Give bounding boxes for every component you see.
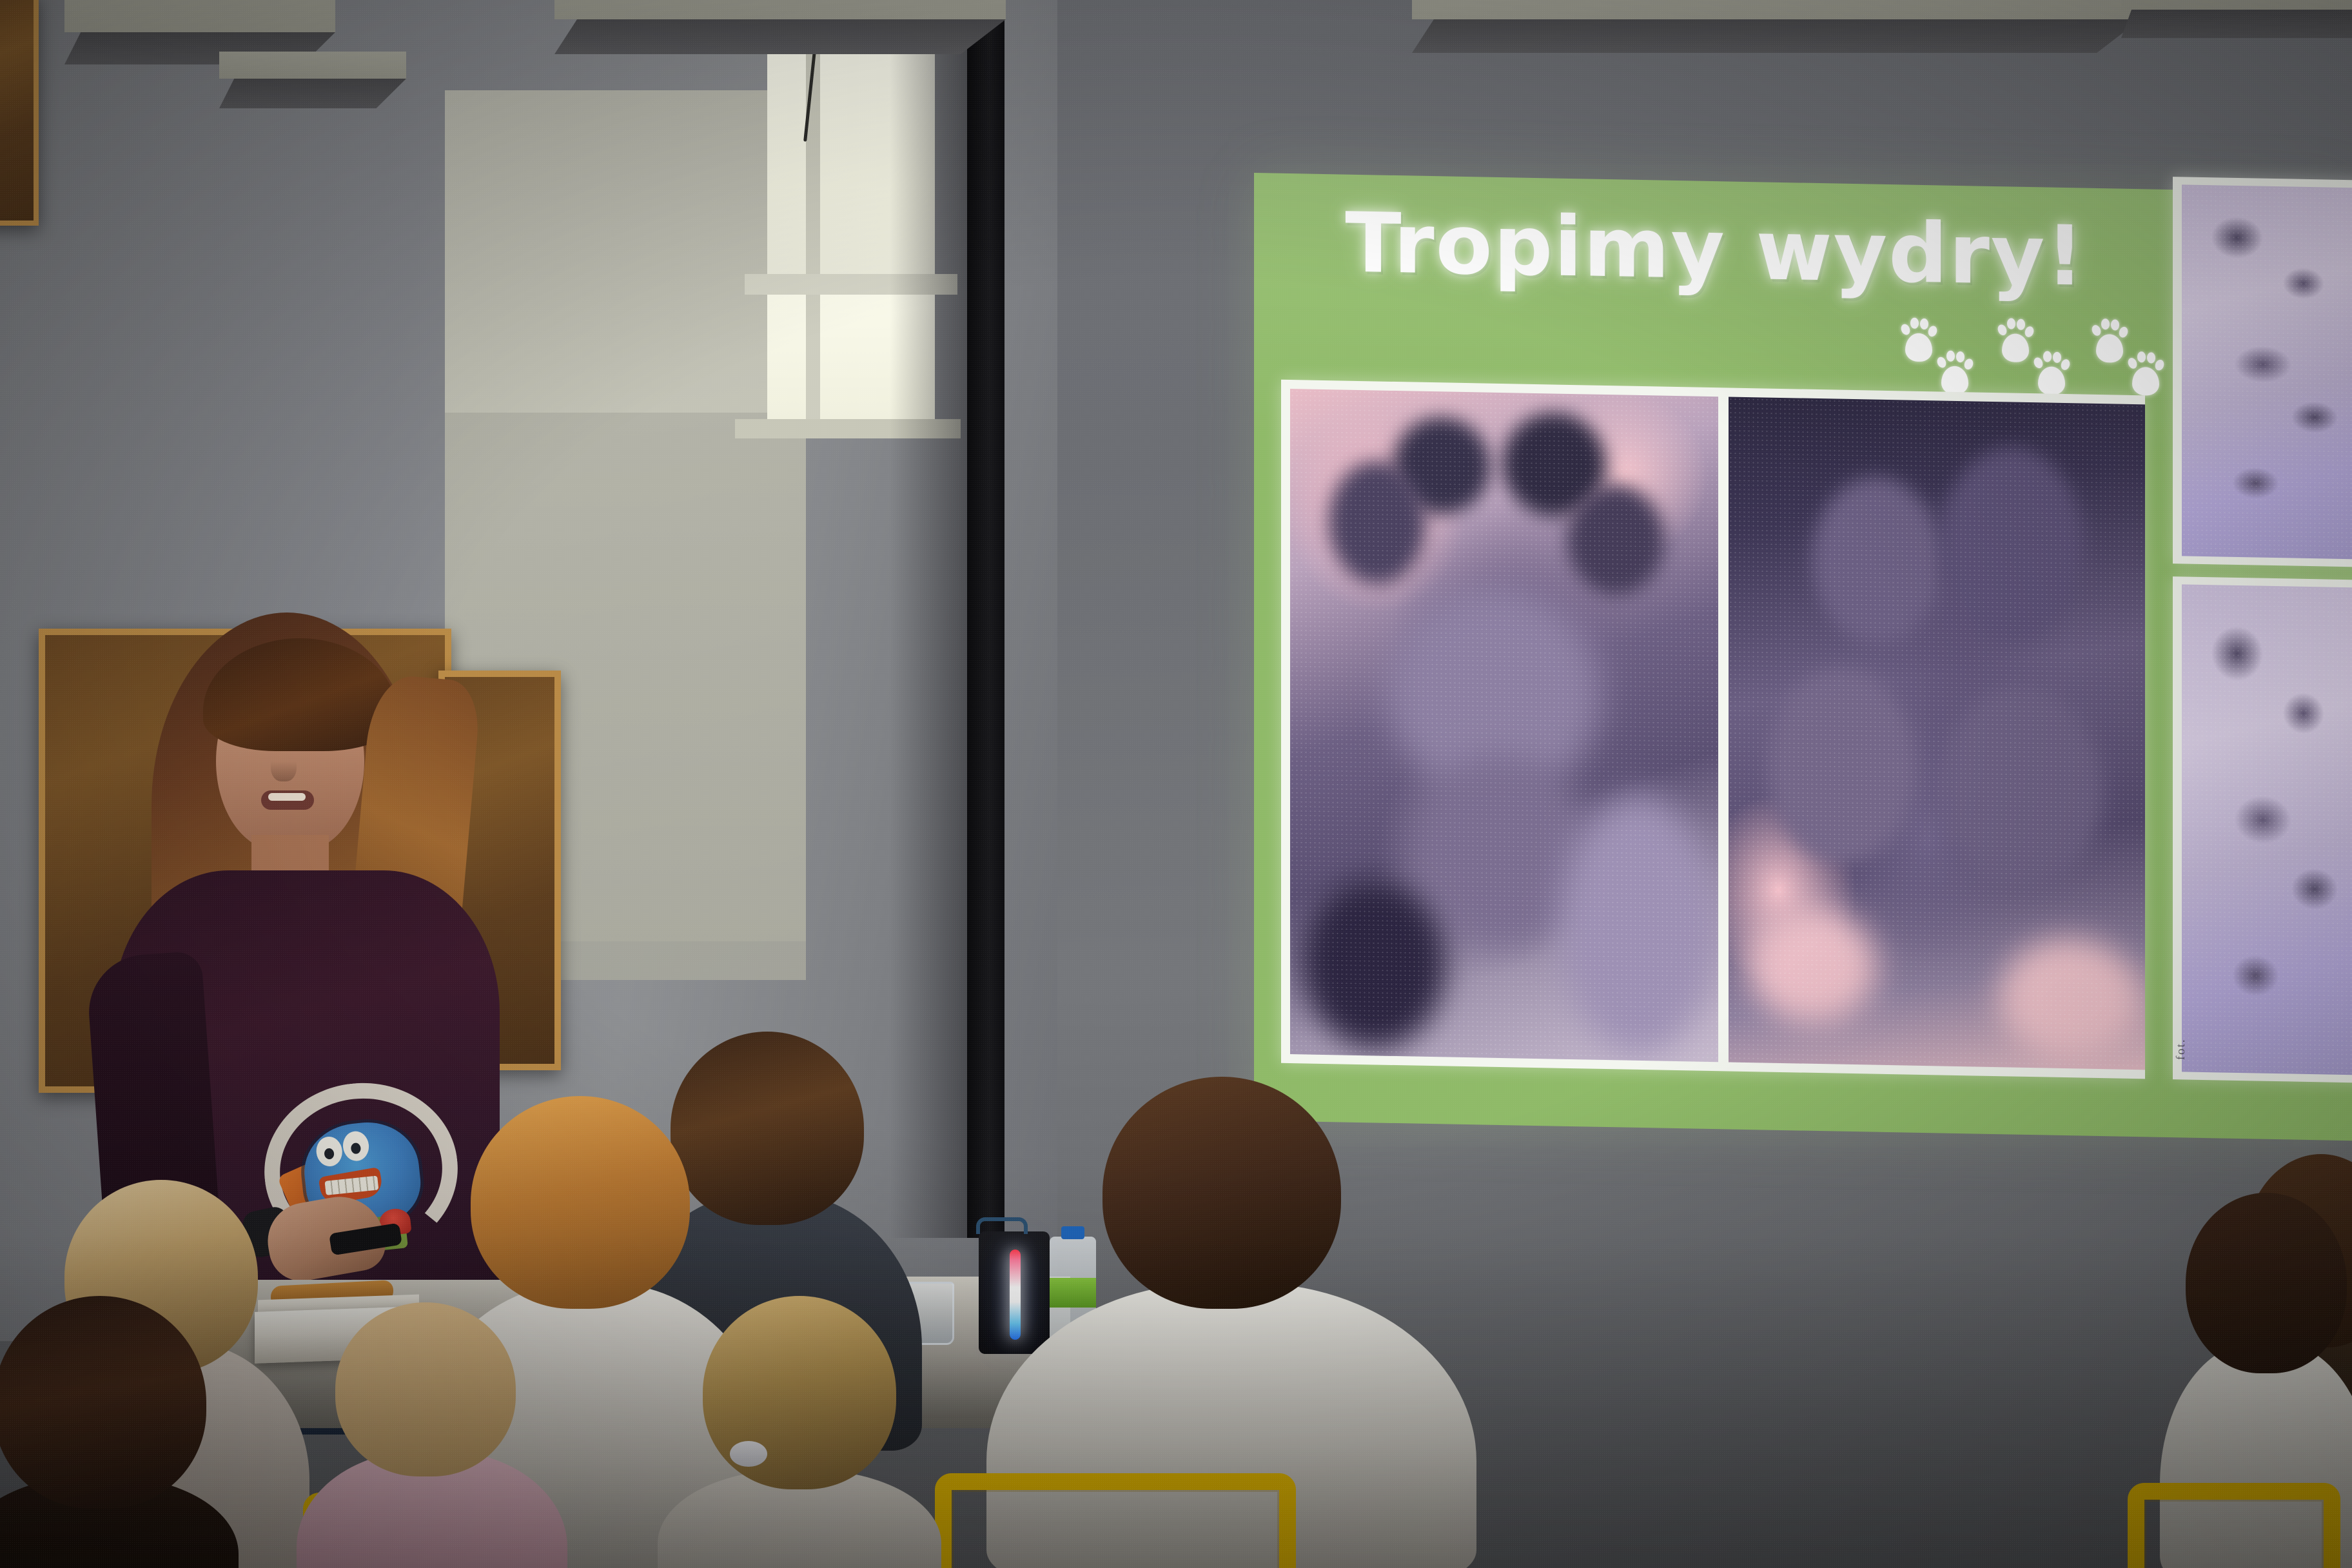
paw-print-row (1899, 313, 2170, 402)
hair-tie (730, 1441, 767, 1467)
ceiling-baffle (554, 0, 1006, 19)
paw-print-icon (1899, 317, 1939, 363)
audience-child (658, 1309, 941, 1568)
paw-print-icon (1935, 350, 1975, 396)
otter-paw-photo-left (1290, 389, 1718, 1062)
structural-column (967, 0, 1004, 1238)
paw-print-icon (1995, 318, 2035, 364)
slide-title: Tropimy wydry! (1254, 193, 2176, 306)
audience-child (297, 1328, 567, 1568)
otter-tracks-photo-lower: fot. (2173, 576, 2352, 1083)
ceiling-baffle (64, 0, 335, 32)
ceiling-baffle (1412, 0, 2141, 19)
classroom-chair[interactable] (935, 1473, 1296, 1568)
presenter-nose (271, 748, 297, 781)
projected-slide: Tropimy wydry! (1254, 173, 2352, 1141)
paw-print-icon (2090, 318, 2130, 364)
classroom-chair[interactable] (2128, 1483, 2340, 1568)
notice-board (0, 0, 39, 226)
ceiling-baffle (219, 52, 406, 79)
paw-print-icon (2126, 351, 2166, 397)
otter-paw-photo-right (1729, 397, 2145, 1070)
presenter-teeth (268, 793, 306, 801)
otter-tracks-photo-upper (2173, 177, 2352, 567)
classroom-photo: Tropimy wydry! (0, 0, 2352, 1568)
slide-photo-pair (1281, 380, 2145, 1079)
photo-credit: fot. (2174, 1038, 2188, 1060)
paw-print-icon (2032, 351, 2072, 397)
audience-child (0, 1296, 251, 1568)
ceiling-baffle (2121, 0, 2352, 10)
